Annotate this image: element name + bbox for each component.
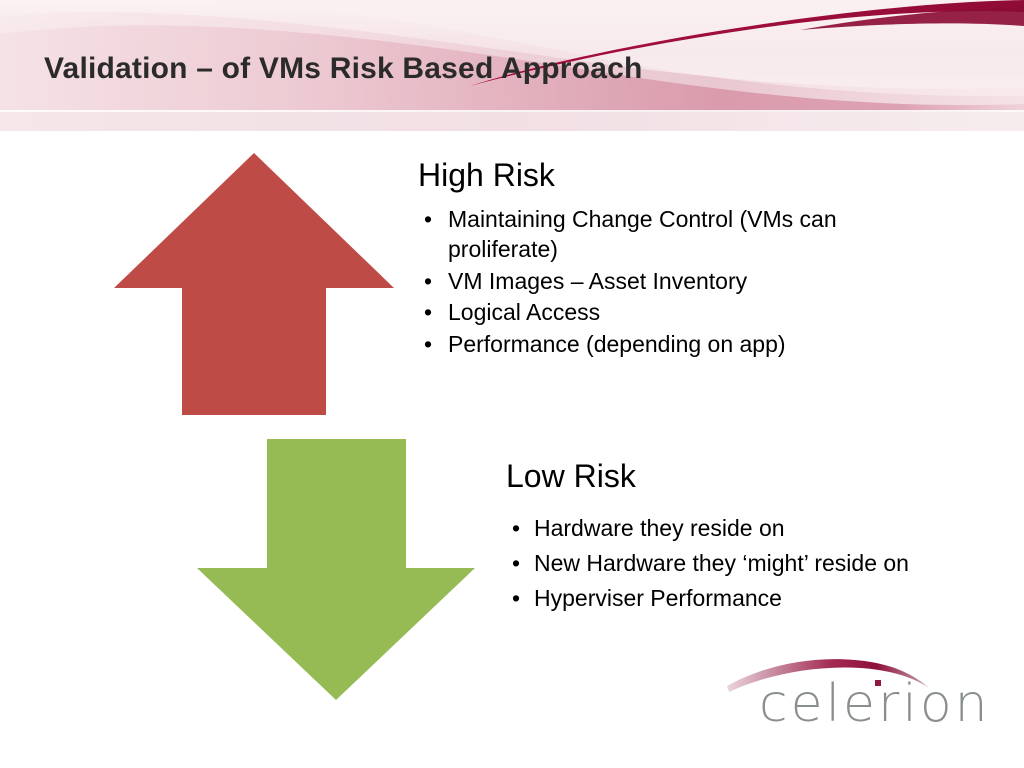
celerion-logo: celerion xyxy=(723,650,991,735)
banner-footer-strip xyxy=(0,112,1024,131)
low-risk-section: Low Risk • Hardware they reside on • New… xyxy=(506,458,926,618)
list-item-label: New Hardware they ‘might’ reside on xyxy=(534,550,909,576)
high-risk-heading: High Risk xyxy=(418,157,888,195)
page-title: Validation – of VMs Risk Based Approach xyxy=(44,52,643,86)
down-arrow-shape xyxy=(197,439,475,700)
list-item-label: VM Images – Asset Inventory xyxy=(448,268,747,294)
low-risk-bullet-list: • Hardware they reside on • New Hardware… xyxy=(506,514,926,614)
high-risk-bullet-list: • Maintaining Change Control (VMs can pr… xyxy=(418,205,888,360)
banner-divider-line xyxy=(0,110,1024,112)
list-item-label: Maintaining Change Control (VMs can prol… xyxy=(448,206,837,262)
list-item-label: Hardware they reside on xyxy=(534,515,785,541)
list-item: • New Hardware they ‘might’ reside on xyxy=(506,549,926,579)
bullet-dot-icon: • xyxy=(512,514,520,544)
up-arrow-shape xyxy=(114,153,394,415)
high-risk-up-arrow xyxy=(104,148,404,423)
list-item: • Hardware they reside on xyxy=(506,514,926,544)
bullet-dot-icon: • xyxy=(424,267,432,297)
logo-wordmark: celerion xyxy=(759,678,991,730)
bullet-dot-icon: • xyxy=(424,205,432,235)
bullet-dot-icon: • xyxy=(512,549,520,579)
list-item: • Logical Access xyxy=(418,298,888,328)
low-risk-down-arrow xyxy=(190,434,485,709)
list-item: • VM Images – Asset Inventory xyxy=(418,267,888,297)
low-risk-heading: Low Risk xyxy=(506,458,926,496)
list-item-label: Hyperviser Performance xyxy=(534,585,782,611)
list-item: • Hyperviser Performance xyxy=(506,584,926,614)
high-risk-section: High Risk • Maintaining Change Control (… xyxy=(418,157,888,362)
list-item: • Performance (depending on app) xyxy=(418,330,888,360)
slide-canvas: Validation – of VMs Risk Based Approach … xyxy=(0,0,1024,768)
list-item: • Maintaining Change Control (VMs can pr… xyxy=(418,205,888,265)
list-item-label: Performance (depending on app) xyxy=(448,331,786,357)
bullet-dot-icon: • xyxy=(512,584,520,614)
bullet-dot-icon: • xyxy=(424,298,432,328)
list-item-label: Logical Access xyxy=(448,299,600,325)
bullet-dot-icon: • xyxy=(424,330,432,360)
